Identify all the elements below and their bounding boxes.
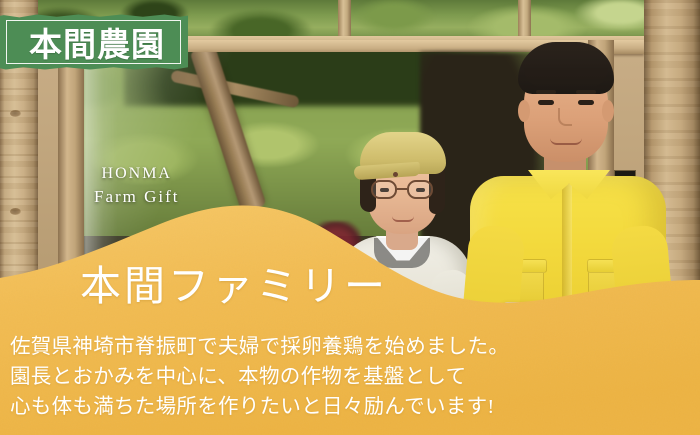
man-hair <box>518 42 614 94</box>
man-brow-left <box>536 90 556 94</box>
woman-glasses <box>370 180 436 200</box>
body-copy: 佐賀県神埼市脊振町で夫婦で採卵養鶏を始めました。 園長とおかみを中心に、本物の作… <box>10 334 509 424</box>
watermark-line-1: HONMA <box>94 163 180 185</box>
watermark-logo: HONMA Farm Gift <box>94 163 180 209</box>
body-line-3: 心も体も満ちた場所を作りたいと日々励んでいます! <box>10 394 509 422</box>
man-eye-right <box>578 100 594 105</box>
man-brow-right <box>576 90 596 94</box>
man-nose <box>558 108 572 126</box>
farm-name-badge: 本間農園 <box>0 14 188 70</box>
headline-title: 本間ファミリー <box>80 252 388 312</box>
man-mouth <box>550 138 582 145</box>
man-ear-right <box>602 100 614 122</box>
watermark-line-2: Farm Gift <box>94 185 180 208</box>
man-ear-left <box>518 100 530 122</box>
body-line-2: 園長とおかみを中心に、本物の作物を基盤として <box>10 364 509 392</box>
body-line-1: 佐賀県神埼市脊振町で夫婦で採卵養鶏を始めました。 <box>10 334 509 362</box>
woman-forehead-mark <box>393 172 398 177</box>
farm-gift-banner: 本間農園 HONMA Farm Gift 本間ファミリー 佐賀県神埼市脊振町で夫… <box>0 0 700 435</box>
woman-mouth <box>392 216 414 222</box>
person-man <box>470 30 670 360</box>
man-eye-left <box>538 100 554 105</box>
badge-label: 本間農園 <box>15 18 165 66</box>
person-woman <box>330 118 480 348</box>
